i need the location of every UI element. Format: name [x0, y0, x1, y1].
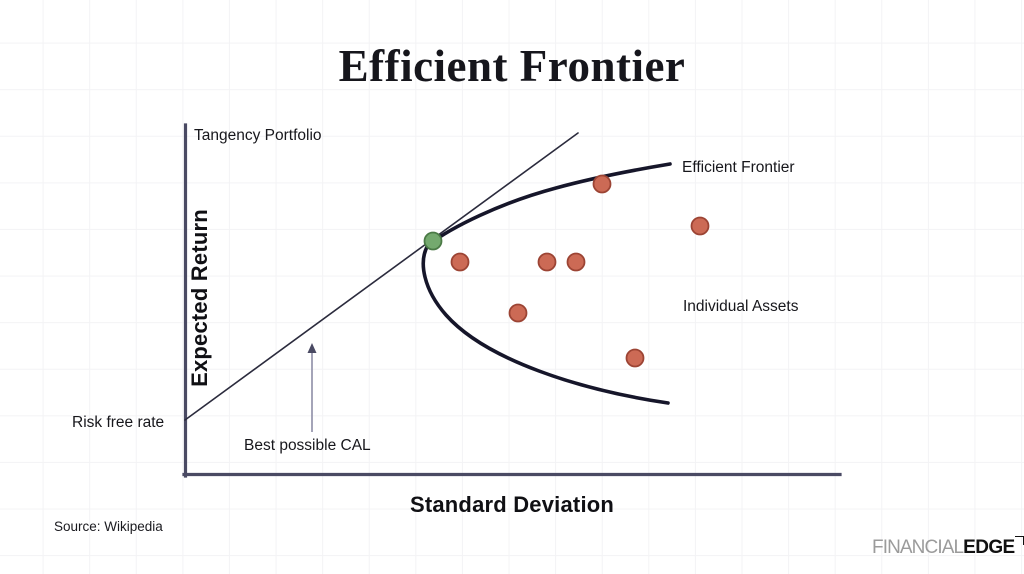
y-axis-title: Expected Return	[187, 188, 213, 408]
label-risk-free-rate: Risk free rate	[72, 414, 164, 431]
tangency-portfolio-dot	[425, 233, 442, 250]
individual-asset-dots	[452, 176, 709, 367]
efficient-frontier-curve-upper	[428, 164, 670, 245]
label-individual-assets: Individual Assets	[683, 298, 798, 315]
brand-logo-edge-text: EDGE	[963, 538, 1014, 558]
label-best-possible-cal: Best possible CAL	[244, 437, 371, 454]
asset-dot	[510, 305, 527, 322]
label-efficient-frontier: Efficient Frontier	[682, 159, 795, 176]
asset-dot	[452, 254, 469, 271]
brand-logo-financial-text: FINANCIAL	[872, 538, 963, 558]
brand-logo: FINANCIAL EDGE	[872, 538, 1024, 560]
capital-allocation-line	[185, 133, 578, 420]
label-tangency-portfolio: Tangency Portfolio	[194, 127, 322, 144]
brand-logo-flag-icon	[1015, 536, 1024, 546]
x-axis-title: Standard Deviation	[0, 492, 1024, 518]
cal-callout-arrow	[308, 343, 317, 432]
asset-dot	[692, 218, 709, 235]
source-note: Source: Wikipedia	[54, 519, 163, 534]
asset-dot	[539, 254, 556, 271]
asset-dot	[627, 350, 644, 367]
chart-canvas	[0, 0, 1024, 574]
efficient-frontier-slide: Efficient Frontier Tangenc	[0, 0, 1024, 574]
asset-dot	[594, 176, 611, 193]
asset-dot	[568, 254, 585, 271]
